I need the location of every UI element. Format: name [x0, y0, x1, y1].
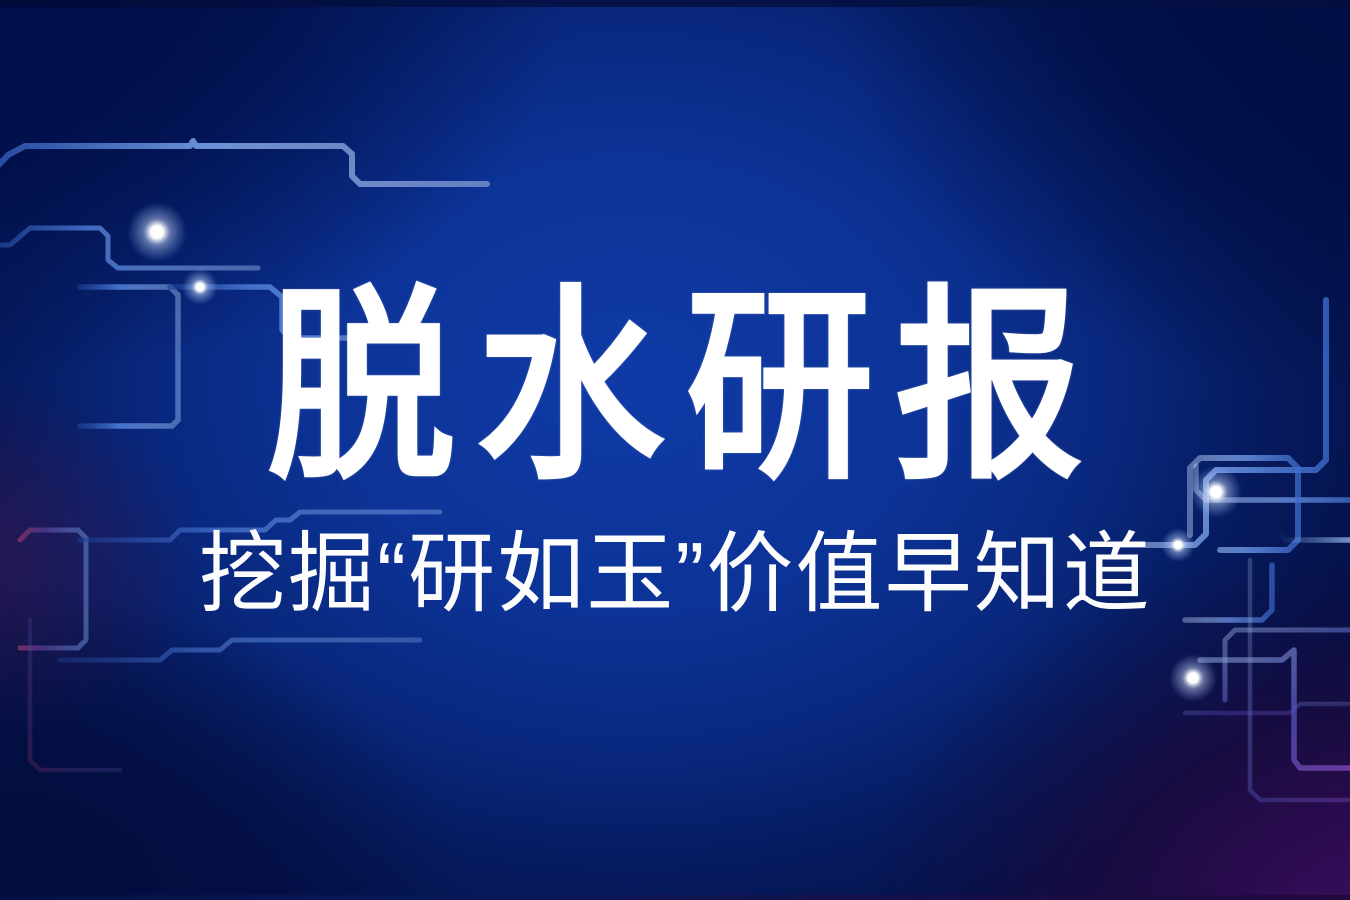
banner-text-block: 脱水研报 挖掘“研如玉”价值早知道: [0, 0, 1350, 900]
page-title: 脱水研报: [246, 276, 1104, 492]
page-subtitle: 挖掘“研如玉”价值早知道: [199, 530, 1152, 618]
banner-canvas: 脱水研报 挖掘“研如玉”价值早知道: [0, 0, 1350, 900]
